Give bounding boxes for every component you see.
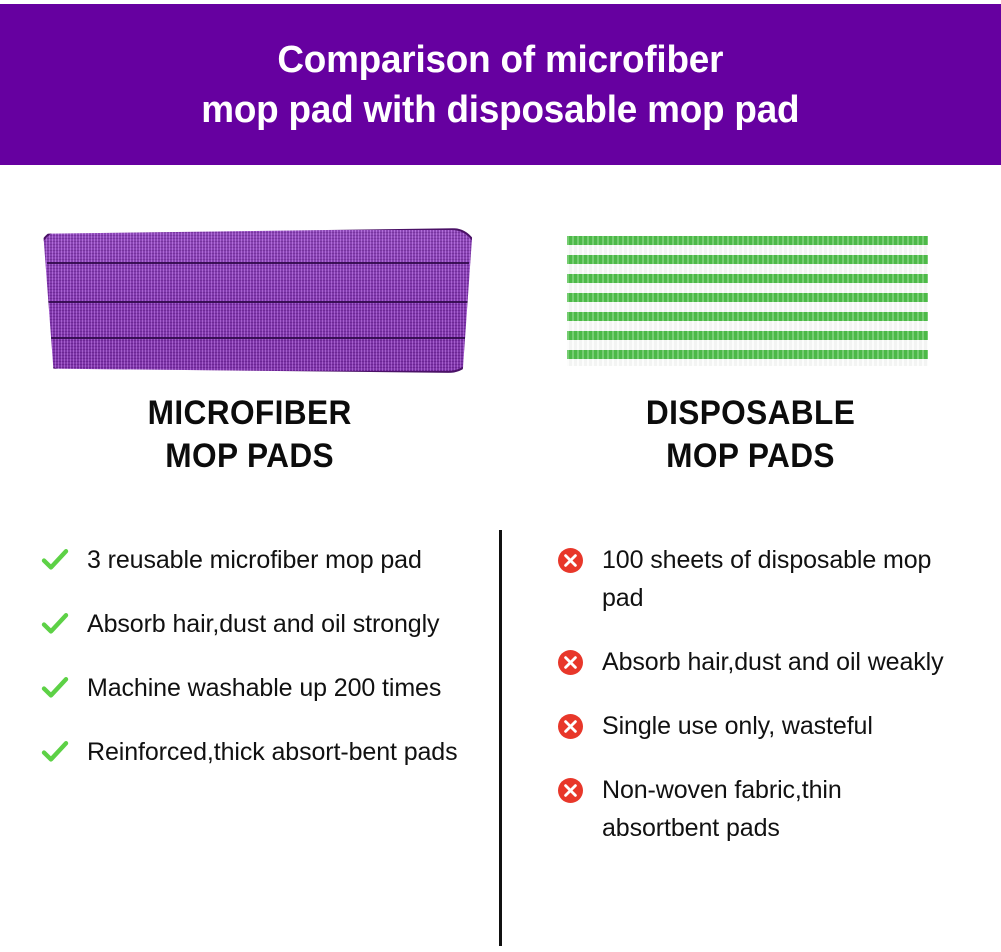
column-headings: MICROFIBER MOP PADS DISPOSABLE MOP PADS: [0, 392, 1001, 487]
feature-text: 100 sheets of disposable mop pad: [602, 541, 945, 617]
list-item: Absorb hair,dust and oil strongly: [40, 605, 466, 643]
circle-x-icon: [555, 775, 585, 805]
feature-text: Single use only, wasteful: [602, 707, 873, 745]
check-icon: [40, 737, 70, 767]
circle-x-icon: [555, 545, 585, 575]
list-item: Non-woven fabric,thin absortbent pads: [555, 771, 945, 847]
column-title-microfiber: MICROFIBER MOP PADS: [148, 392, 352, 478]
list-item: Absorb hair,dust and oil weakly: [555, 643, 945, 681]
list-item: Single use only, wasteful: [555, 707, 945, 745]
feature-text: Reinforced,thick absort-bent pads: [87, 733, 458, 771]
column-title-disposable: DISPOSABLE MOP PADS: [646, 392, 855, 478]
pad-seam-line: [47, 337, 470, 339]
check-icon: [40, 609, 70, 639]
feature-text: Non-woven fabric,thin absortbent pads: [602, 771, 945, 847]
product-image-row: [0, 165, 1001, 390]
page-title: Comparison of microfiber mop pad with di…: [178, 35, 823, 135]
check-icon: [40, 673, 70, 703]
pad-seam-line: [47, 301, 470, 303]
heading-column-disposable: DISPOSABLE MOP PADS: [500, 392, 1001, 487]
feature-text: Machine washable up 200 times: [87, 669, 441, 707]
pad-seam-line: [47, 262, 470, 264]
infographic-page: Comparison of microfiber mop pad with di…: [0, 0, 1001, 952]
feature-text: 3 reusable microfiber mop pad: [87, 541, 422, 579]
feature-list-disposable: 100 sheets of disposable mop pad Absorb …: [500, 530, 1001, 952]
feature-lists: 3 reusable microfiber mop pad Absorb hai…: [0, 530, 1001, 952]
heading-column-microfiber: MICROFIBER MOP PADS: [0, 392, 500, 487]
list-item: 100 sheets of disposable mop pad: [555, 541, 945, 617]
list-item: 3 reusable microfiber mop pad: [40, 541, 466, 579]
feature-text: Absorb hair,dust and oil strongly: [87, 605, 439, 643]
feature-text: Absorb hair,dust and oil weakly: [602, 643, 944, 681]
list-item: Machine washable up 200 times: [40, 669, 466, 707]
header-banner: Comparison of microfiber mop pad with di…: [0, 4, 1001, 165]
feature-list-microfiber: 3 reusable microfiber mop pad Absorb hai…: [0, 530, 500, 952]
disposable-mop-pad-image: [567, 236, 928, 366]
circle-x-icon: [555, 711, 585, 741]
circle-x-icon: [555, 647, 585, 677]
list-item: Reinforced,thick absort-bent pads: [40, 733, 466, 771]
check-icon: [40, 545, 70, 575]
microfiber-mop-pad-image: [38, 228, 478, 373]
